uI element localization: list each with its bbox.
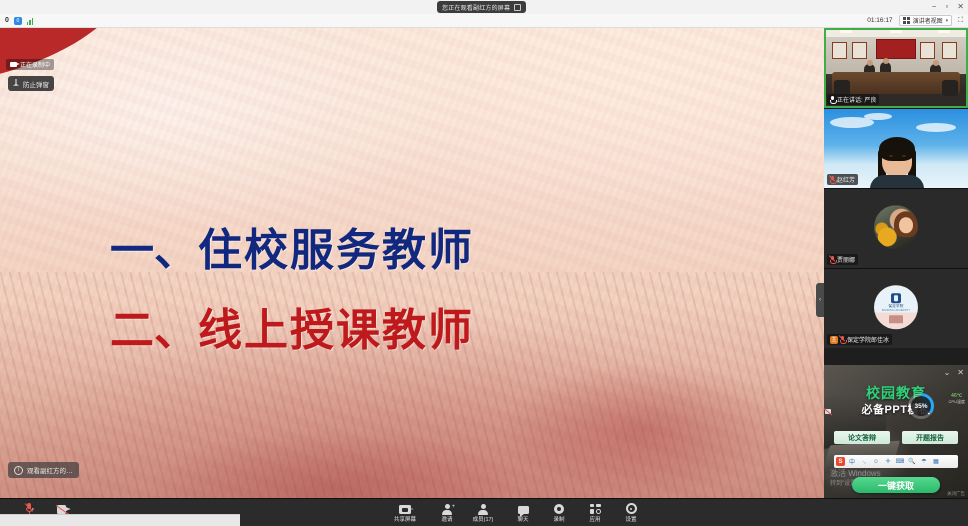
microphone-muted-icon <box>830 176 835 183</box>
titlebar-right-group: 01:16:17 演讲者视图 ▾ ⛶ <box>867 15 968 26</box>
conference-table <box>832 72 960 94</box>
cpu-usage-gauge: 35% <box>908 393 934 419</box>
advertisement-panel[interactable]: ⌄ ✕ 校园教育 必备PPT模板 35% 46℃ CPU温度 论文答辩 开题报告… <box>824 365 968 498</box>
eye <box>889 155 893 157</box>
window-controls: − ▫ ✕ <box>932 0 964 14</box>
minimize-button[interactable]: − <box>932 3 937 11</box>
ceiling-lamp <box>890 30 902 33</box>
wall-frame <box>920 42 935 59</box>
record-icon <box>554 503 564 514</box>
participant-name-badge: 贾丽娜 <box>827 254 858 265</box>
ime-punctuation-icon[interactable]: ·, <box>859 459 869 465</box>
ad-close-link[interactable]: 关闭广告 <box>947 491 965 497</box>
ceiling-lamp <box>840 30 852 33</box>
titlebar-left-group: 0 0 <box>0 17 33 25</box>
ad-close-icon[interactable]: ✕ <box>957 368 964 377</box>
recording-indicator: 正在录制中 <box>6 59 54 70</box>
chevron-left-icon: ‹ <box>819 297 821 303</box>
ceiling-lamp <box>938 30 950 33</box>
toolbar-invite-label: 邀请 <box>441 515 452 523</box>
participant-name-badge: 赵红芳 <box>827 174 858 185</box>
shared-screen-stage[interactable]: 一、住校服务教师 二、线上授课教师 正在录制中 防止弹窗 i 观看副红方的… ‹ <box>0 28 824 498</box>
ime-skin-icon[interactable]: ☂ <box>919 458 929 465</box>
floating-toolbar-label: 防止弹窗 <box>23 79 49 89</box>
ime-symbol-icon[interactable]: ✛ <box>883 458 893 465</box>
participant-tile-avatar[interactable]: 贾丽娜 <box>824 188 968 268</box>
chevron-down-icon: ▾ <box>946 18 949 24</box>
ime-emoji-icon[interactable]: ☺ <box>871 459 881 465</box>
sogou-ime-toolbar[interactable]: S 中 ·, ☺ ✛ ⌨ 🔍 ☂ ▦ <box>834 455 958 468</box>
toolbar-share-label: 共享屏幕 <box>394 515 416 523</box>
microphone-muted-icon <box>830 256 835 263</box>
sidebar-collapse-handle[interactable]: ‹ <box>816 283 824 317</box>
participant-tile-active-speaker[interactable]: 正在讲话: 严良 <box>824 28 968 108</box>
view-mode-selector[interactable]: 演讲者视图 ▾ <box>899 15 953 26</box>
host-badge-icon: 主 <box>830 336 838 344</box>
school-logo-subtext: BAODING UNIVERSITY <box>882 309 910 312</box>
share-screen-icon <box>399 503 411 514</box>
torso <box>870 175 924 188</box>
participant-name: 赵红芳 <box>837 175 855 184</box>
avatar <box>874 205 918 249</box>
info-icon: i <box>14 466 23 475</box>
cpu-temperature: 46℃ CPU温度 <box>949 393 965 405</box>
school-building-graphic <box>889 315 903 323</box>
participant-name-badge: 正在讲话: 严良 <box>827 94 879 105</box>
toolbar-share-screen-button[interactable]: 共享屏幕 <box>382 501 428 525</box>
close-button[interactable]: ✕ <box>957 3 964 11</box>
chair <box>942 80 958 96</box>
chat-icon <box>518 503 529 514</box>
toolbar-settings-button[interactable]: 设置 <box>608 501 654 525</box>
desktop-top-bar: 您正在观看副红方的屏幕 − ▫ ✕ <box>0 0 968 14</box>
hair-top <box>879 137 915 161</box>
ad-window-controls: ⌄ ✕ <box>944 368 964 377</box>
ime-keyboard-icon[interactable]: ⌨ <box>895 458 905 465</box>
wall-frame <box>942 42 957 59</box>
microphone-muted-icon <box>840 336 845 343</box>
eye <box>902 155 906 157</box>
ad-minimize-icon[interactable]: ⌄ <box>944 368 951 377</box>
slide-text-block: 一、住校服务教师 二、线上授课教师 <box>0 28 824 498</box>
participant-name: 正在讲话: 严良 <box>837 95 876 104</box>
windows-taskbar-sliver <box>0 514 240 526</box>
ad-button-proposal-report[interactable]: 开题报告 <box>902 431 958 444</box>
slide-line-1: 一、住校服务教师 <box>110 214 474 278</box>
floating-share-toolbar[interactable]: 防止弹窗 <box>8 76 54 91</box>
recording-camera-icon <box>10 62 17 67</box>
wall-frame <box>852 42 867 59</box>
signal-icon <box>27 17 34 25</box>
speaker-view-icon <box>903 17 910 24</box>
meeting-title-bar: 0 0 01:16:17 演讲者视图 ▾ ⛶ <box>0 14 968 28</box>
toolbar-record-label: 录制 <box>553 515 564 523</box>
toolbar-settings-label: 设置 <box>625 515 636 523</box>
fullscreen-icon[interactable]: ⛶ <box>958 17 963 25</box>
ime-search-icon[interactable]: 🔍 <box>907 458 917 465</box>
cloud <box>916 123 956 132</box>
recording-label: 正在录制中 <box>20 60 50 69</box>
ime-menu-icon[interactable]: ▦ <box>931 458 941 465</box>
participant-name: 保定学院郎佳冰 <box>847 335 889 344</box>
invite-icon: + <box>442 503 452 514</box>
slide-line-2-text: 线上授课教师 <box>198 305 474 356</box>
sogou-logo-icon[interactable]: S <box>836 457 845 466</box>
presentation-slide: 一、住校服务教师 二、线上授课教师 <box>0 28 824 498</box>
participant-count: 0 <box>5 17 9 24</box>
maximize-button[interactable]: ▫ <box>945 3 948 11</box>
microphone-icon <box>830 96 835 103</box>
apps-icon <box>590 503 601 514</box>
ad-button-thesis-defense[interactable]: 论文答辩 <box>834 431 890 444</box>
wall-frame <box>832 42 847 59</box>
viewing-status-label: 观看副红方的… <box>27 465 73 475</box>
stop-share-icon[interactable] <box>514 4 521 11</box>
viewing-status-chip[interactable]: i 观看副红方的… <box>8 462 79 478</box>
slide-line-2-number: 二、 <box>110 305 198 356</box>
meeting-timer: 01:16:17 <box>867 17 892 24</box>
participant-name: 贾丽娜 <box>837 255 855 264</box>
ad-title: 校园教育 <box>824 383 968 403</box>
network-badge: 0 <box>14 17 22 25</box>
participant-tile-avatar[interactable]: 保定学院 BAODING UNIVERSITY 主 保定学院郎佳冰 <box>824 268 968 348</box>
cloud <box>864 113 892 120</box>
share-notice-text: 您正在观看副红方的屏幕 <box>442 3 510 12</box>
ad-subtitle: 必备PPT模板 <box>824 401 968 417</box>
participants-icon <box>478 503 488 514</box>
avatar: 保定学院 BAODING UNIVERSITY <box>874 285 918 329</box>
slide-line-1-number: 一、 <box>110 225 198 276</box>
toolbar-participants-label: 成员(17) <box>473 515 494 523</box>
cpu-temp-label: CPU温度 <box>949 399 965 405</box>
pin-icon <box>13 79 19 88</box>
ime-chinese-mode-icon[interactable]: 中 <box>847 457 857 466</box>
avatar-face <box>899 217 913 233</box>
ad-category-buttons: 论文答辩 开题报告 <box>834 431 958 444</box>
slide-line-1-text: 住校服务教师 <box>198 225 474 276</box>
participant-name-badge: 主 保定学院郎佳冰 <box>827 334 892 345</box>
view-mode-label: 演讲者视图 <box>913 16 943 25</box>
school-logo-icon <box>891 293 901 303</box>
cpu-usage-value: 35% <box>911 396 931 416</box>
settings-icon <box>626 503 637 514</box>
wall-banner <box>876 39 916 59</box>
slide-line-2: 二、线上授课教师 <box>110 294 474 358</box>
share-options-caret-icon[interactable]: ^ <box>411 508 413 514</box>
screen-share-notice[interactable]: 您正在观看副红方的屏幕 <box>437 1 526 13</box>
ad-cta-button[interactable]: 一键获取 <box>852 477 940 493</box>
toolbar-apps-label: 应用 <box>589 515 600 523</box>
participant-tile-video[interactable]: 赵红芳 <box>824 108 968 188</box>
